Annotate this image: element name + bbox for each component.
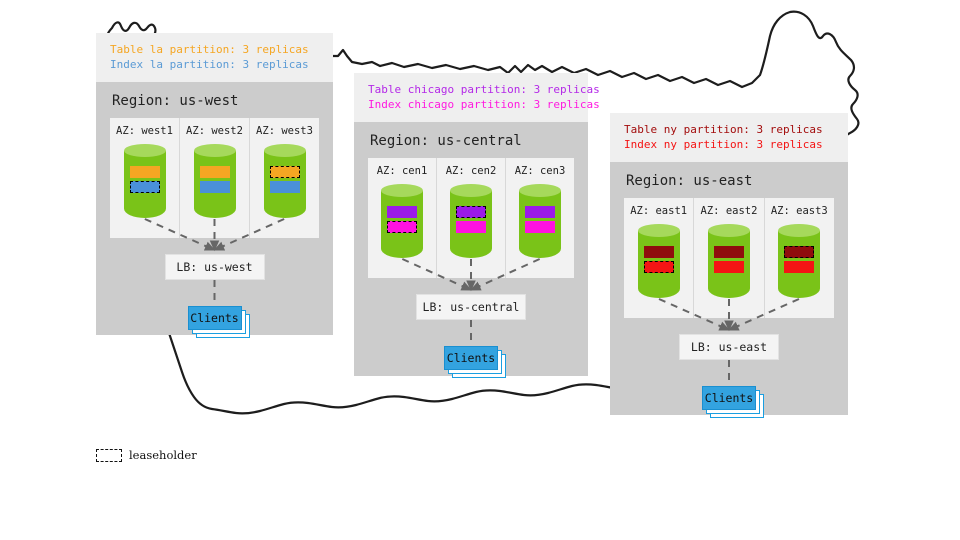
az-label: AZ: east1 (630, 205, 687, 217)
replica-table[interactable] (200, 166, 230, 178)
az-cell-cen3[interactable]: AZ: cen3 (505, 158, 574, 278)
az-cell-west3[interactable]: AZ: west3 (249, 118, 319, 238)
database-cylinder-cen3[interactable] (519, 184, 561, 258)
replica-table-leaseholder[interactable] (784, 246, 814, 258)
cylinder-top-ellipse (519, 184, 561, 197)
replica-table[interactable] (644, 246, 674, 258)
load-balancer-us-central[interactable]: LB: us-central (416, 294, 526, 320)
region-panel-us-east: Table ny partition: 3 replicasIndex ny p… (610, 113, 848, 415)
replica-slots (381, 206, 423, 233)
replica-index-leaseholder[interactable] (644, 261, 674, 273)
region-title-us-east: Region: us-east (610, 162, 848, 198)
replica-slots (778, 246, 820, 273)
az-row-us-central: AZ: cen1AZ: cen2AZ: cen3 (368, 158, 574, 278)
leaseholder-legend-label: leaseholder (129, 448, 197, 462)
diagram-canvas: Table la partition: 3 replicasIndex la p… (0, 0, 960, 540)
replica-index[interactable] (270, 181, 300, 193)
replica-slots (124, 166, 166, 193)
clients-box[interactable]: Clients (444, 346, 498, 370)
replica-table[interactable] (387, 206, 417, 218)
clients-stack-us-east[interactable]: Clients (702, 386, 766, 420)
region-panel-us-west: Table la partition: 3 replicasIndex la p… (96, 33, 333, 335)
cylinder-top-ellipse (778, 224, 820, 237)
partition-line-index: Index chicago partition: 3 replicas (368, 97, 574, 112)
az-cell-west2[interactable]: AZ: west2 (179, 118, 249, 238)
partition-legend-us-central: Table chicago partition: 3 replicasIndex… (354, 73, 588, 122)
cylinder-top-ellipse (264, 144, 306, 157)
replica-slots (194, 166, 236, 193)
az-label: AZ: west2 (186, 125, 243, 137)
az-label: AZ: east2 (701, 205, 758, 217)
replica-index[interactable] (456, 221, 486, 233)
partition-legend-us-east: Table ny partition: 3 replicasIndex ny p… (610, 113, 848, 162)
database-cylinder-cen2[interactable] (450, 184, 492, 258)
clients-box[interactable]: Clients (702, 386, 756, 410)
region-panel-us-central: Table chicago partition: 3 replicasIndex… (354, 73, 588, 376)
partition-line-index: Index ny partition: 3 replicas (624, 137, 834, 152)
replica-index-leaseholder[interactable] (130, 181, 160, 193)
leaseholder-legend: leaseholder (96, 448, 197, 462)
replica-index[interactable] (525, 221, 555, 233)
database-cylinder-west1[interactable] (124, 144, 166, 218)
az-cell-east1[interactable]: AZ: east1 (624, 198, 693, 318)
az-row-us-west: AZ: west1AZ: west2AZ: west3 (110, 118, 319, 238)
region-title-us-west: Region: us-west (96, 82, 333, 118)
replica-slots (519, 206, 561, 233)
clients-stack-us-west[interactable]: Clients (188, 306, 252, 340)
leaseholder-swatch-icon (96, 449, 122, 462)
partition-line-table: Table ny partition: 3 replicas (624, 122, 834, 137)
cylinder-top-ellipse (708, 224, 750, 237)
replica-table-leaseholder[interactable] (270, 166, 300, 178)
cylinder-top-ellipse (638, 224, 680, 237)
partition-line-table: Table la partition: 3 replicas (110, 42, 319, 57)
az-cell-cen1[interactable]: AZ: cen1 (368, 158, 436, 278)
replica-index[interactable] (784, 261, 814, 273)
az-cell-cen2[interactable]: AZ: cen2 (436, 158, 505, 278)
cylinder-top-ellipse (381, 184, 423, 197)
load-balancer-us-east[interactable]: LB: us-east (679, 334, 779, 360)
az-label: AZ: cen2 (446, 165, 497, 177)
database-cylinder-east1[interactable] (638, 224, 680, 298)
cylinder-top-ellipse (450, 184, 492, 197)
az-label: AZ: west1 (116, 125, 173, 137)
replica-table[interactable] (714, 246, 744, 258)
partition-line-index: Index la partition: 3 replicas (110, 57, 319, 72)
az-cell-east3[interactable]: AZ: east3 (764, 198, 834, 318)
az-cell-east2[interactable]: AZ: east2 (693, 198, 763, 318)
region-body-us-west: Region: us-westAZ: west1AZ: west2AZ: wes… (96, 82, 333, 335)
clients-box[interactable]: Clients (188, 306, 242, 330)
database-cylinder-east2[interactable] (708, 224, 750, 298)
database-cylinder-cen1[interactable] (381, 184, 423, 258)
az-cell-west1[interactable]: AZ: west1 (110, 118, 179, 238)
partition-legend-us-west: Table la partition: 3 replicasIndex la p… (96, 33, 333, 82)
database-cylinder-west2[interactable] (194, 144, 236, 218)
region-body-us-east: Region: us-eastAZ: east1AZ: east2AZ: eas… (610, 162, 848, 415)
clients-stack-us-central[interactable]: Clients (444, 346, 508, 380)
replica-slots (708, 246, 750, 273)
replica-table[interactable] (130, 166, 160, 178)
region-title-us-central: Region: us-central (354, 122, 588, 158)
replica-slots (450, 206, 492, 233)
az-label: AZ: west3 (256, 125, 313, 137)
load-balancer-us-west[interactable]: LB: us-west (165, 254, 265, 280)
az-label: AZ: cen3 (515, 165, 566, 177)
az-label: AZ: cen1 (377, 165, 428, 177)
az-row-us-east: AZ: east1AZ: east2AZ: east3 (624, 198, 834, 318)
cylinder-top-ellipse (124, 144, 166, 157)
replica-index[interactable] (200, 181, 230, 193)
replica-table[interactable] (525, 206, 555, 218)
database-cylinder-east3[interactable] (778, 224, 820, 298)
cylinder-top-ellipse (194, 144, 236, 157)
replica-table-leaseholder[interactable] (456, 206, 486, 218)
database-cylinder-west3[interactable] (264, 144, 306, 218)
replica-index-leaseholder[interactable] (387, 221, 417, 233)
replica-slots (638, 246, 680, 273)
partition-line-table: Table chicago partition: 3 replicas (368, 82, 574, 97)
region-body-us-central: Region: us-centralAZ: cen1AZ: cen2AZ: ce… (354, 122, 588, 376)
replica-index[interactable] (714, 261, 744, 273)
az-label: AZ: east3 (771, 205, 828, 217)
replica-slots (264, 166, 306, 193)
